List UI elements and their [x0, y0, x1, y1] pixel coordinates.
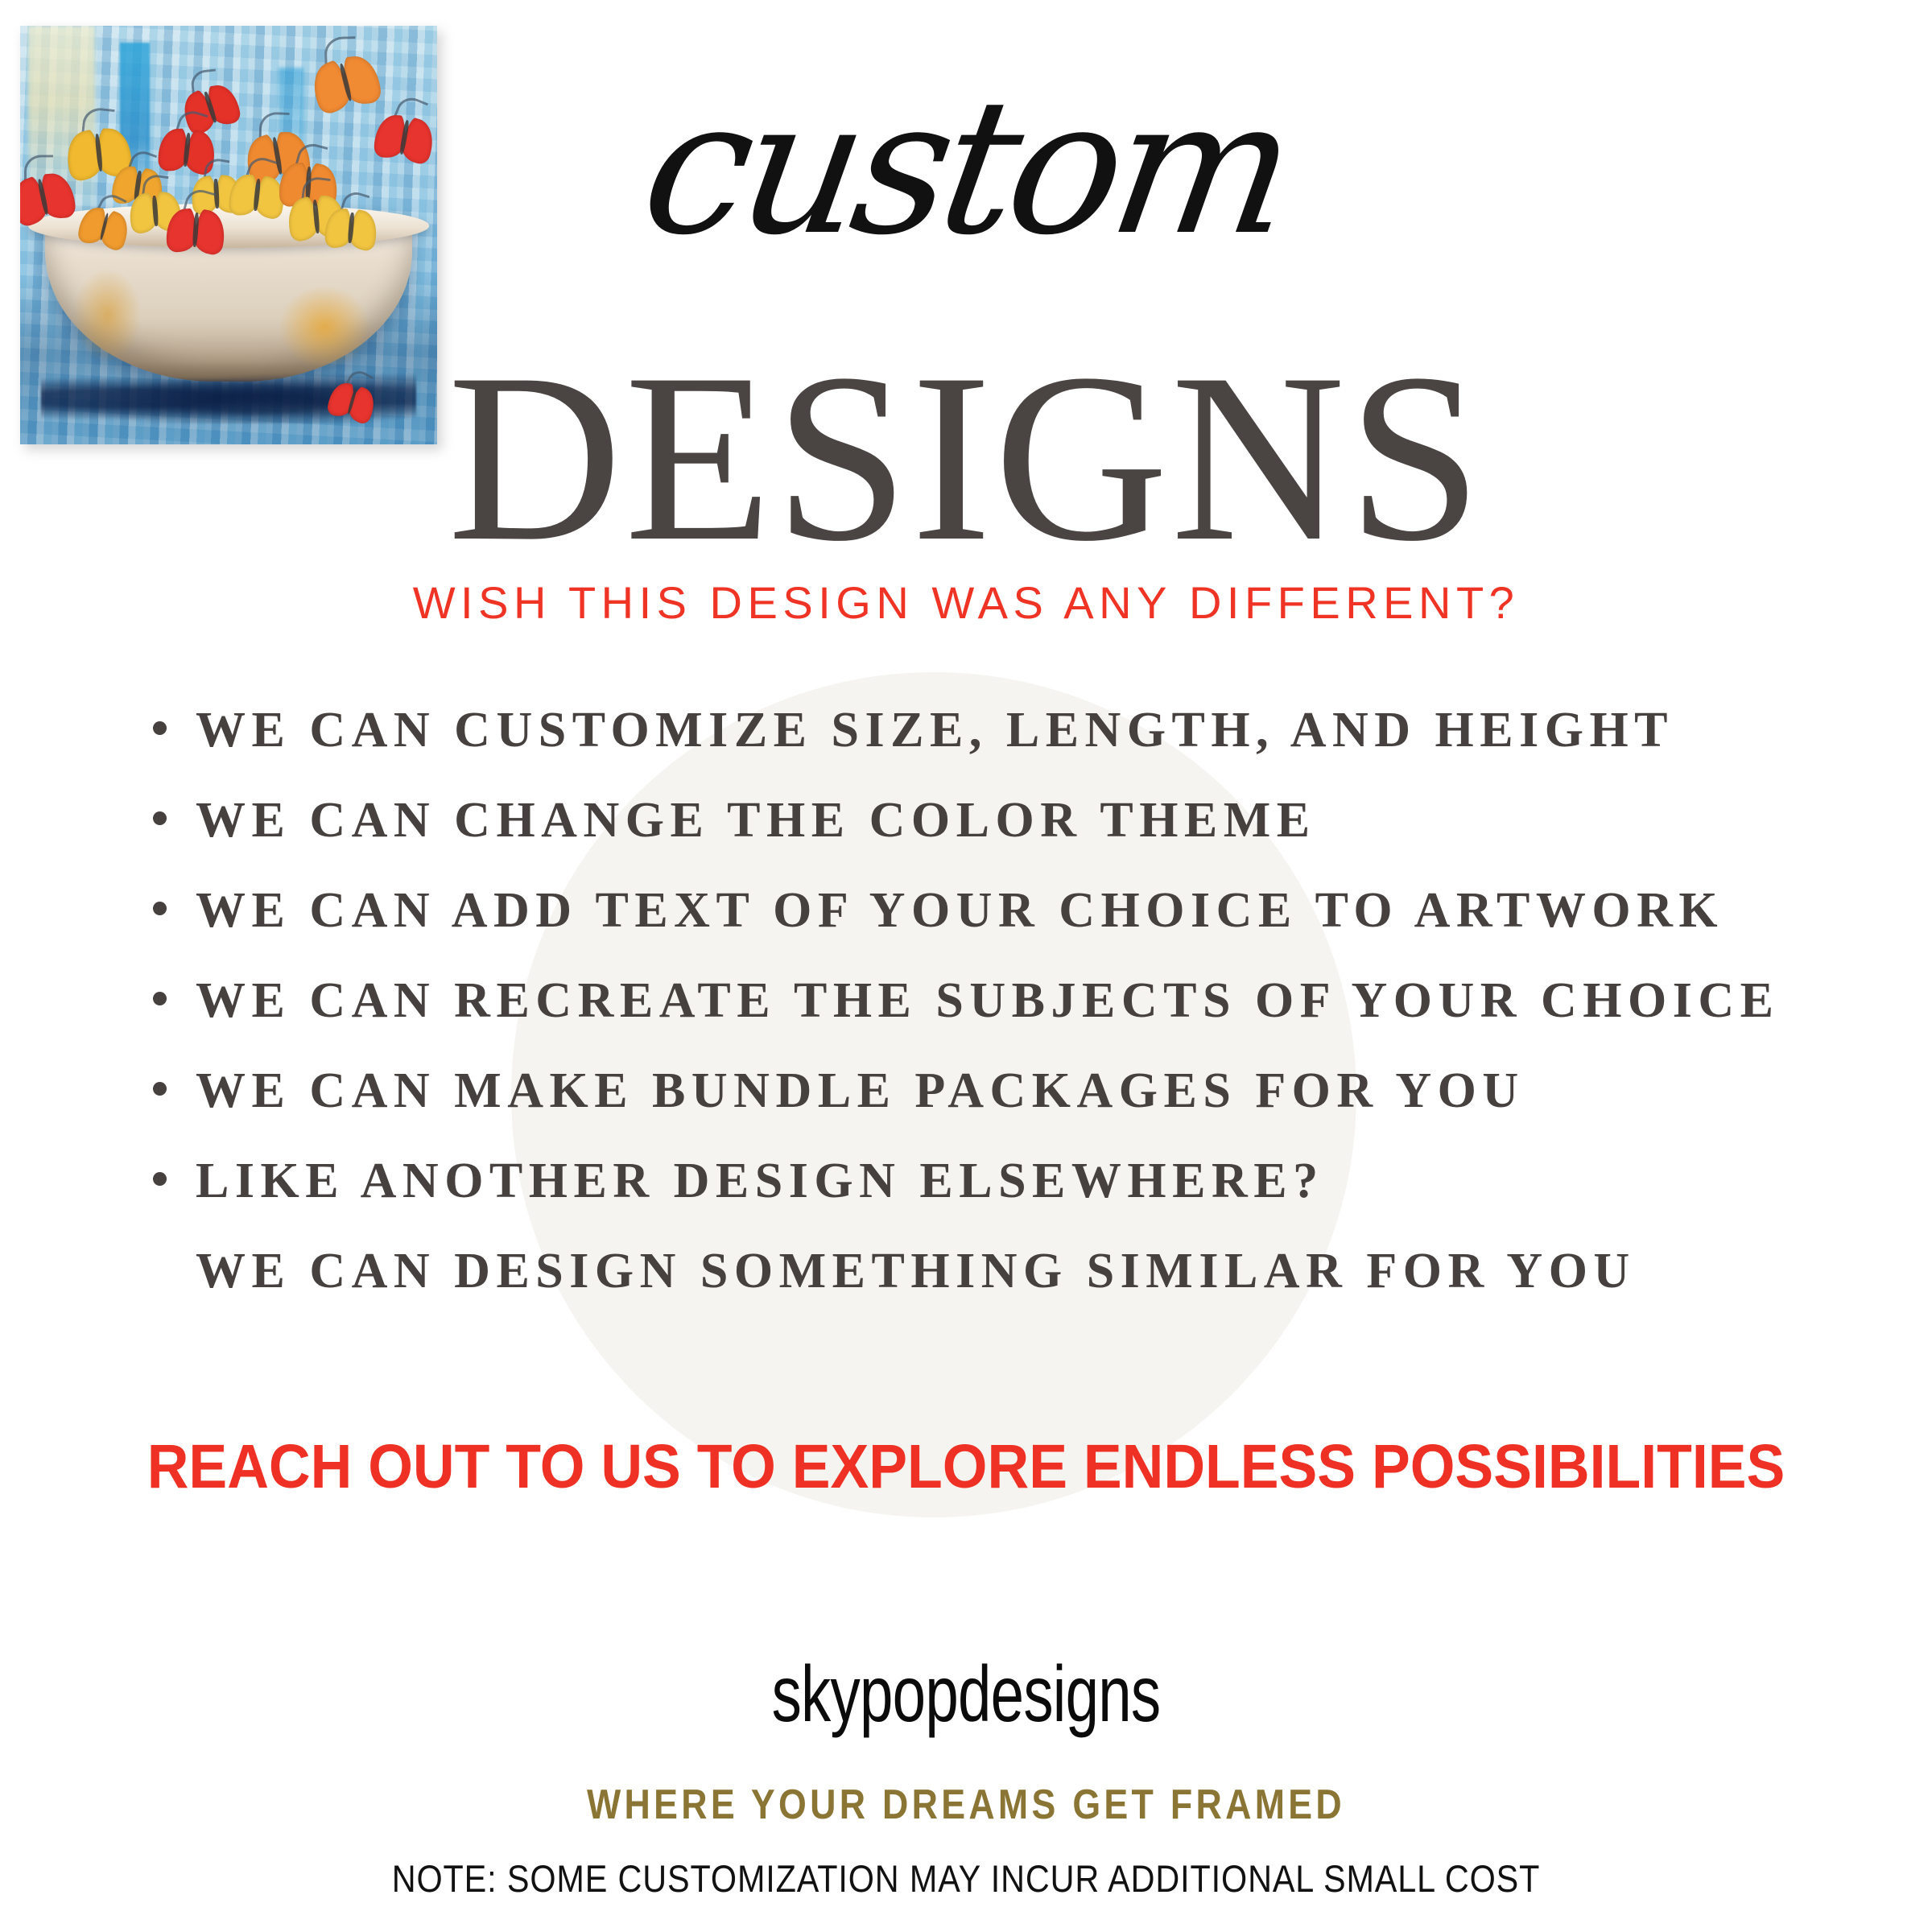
list-item-label: WE CAN ADD TEXT OF YOUR CHOICE TO ARTWOR… — [196, 882, 1724, 939]
benefits-list: WE CAN CUSTOMIZE SIZE, LENGTH, AND HEIGH… — [153, 702, 1843, 1333]
list-item: WE CAN ADD TEXT OF YOUR CHOICE TO ARTWOR… — [153, 882, 1843, 942]
brand-tagline: WHERE YOUR DREAMS GET FRAMED — [135, 1781, 1797, 1829]
list-item: WE CAN DESIGN SOMETHING SIMILAR FOR YOU — [153, 1243, 1843, 1302]
cta-text: REACH OUT TO US TO EXPLORE ENDLESS POSSI… — [68, 1431, 1864, 1503]
bullet-dot-icon — [153, 721, 167, 735]
list-item-label: WE CAN MAKE BUNDLE PACKAGES FOR YOU — [196, 1063, 1525, 1120]
script-headline-custom: custom — [0, 74, 1932, 261]
list-item-label: WE CAN CHANGE THE COLOR THEME — [196, 792, 1316, 849]
bullet-dot-icon — [153, 1172, 167, 1186]
footer-note: NOTE: SOME CUSTOMIZATION MAY INCUR ADDIT… — [116, 1856, 1816, 1901]
subtitle-question: WISH THIS DESIGN WAS ANY DIFFERENT? — [0, 576, 1932, 629]
list-item: LIKE ANOTHER DESIGN ELSEWHERE? — [153, 1153, 1843, 1212]
bullet-dot-icon — [153, 992, 167, 1005]
list-item-label: WE CAN DESIGN SOMETHING SIMILAR FOR YOU — [196, 1243, 1636, 1300]
brand-name: skypopdesigns — [232, 1649, 1700, 1740]
bullet-dot-icon — [153, 902, 167, 915]
bullet-dot-icon — [153, 811, 167, 825]
list-item: WE CAN CHANGE THE COLOR THEME — [153, 792, 1843, 852]
list-item: WE CAN MAKE BUNDLE PACKAGES FOR YOU — [153, 1063, 1843, 1122]
list-item: WE CAN CUSTOMIZE SIZE, LENGTH, AND HEIGH… — [153, 702, 1843, 762]
list-item-label: LIKE ANOTHER DESIGN ELSEWHERE? — [196, 1153, 1324, 1210]
page-title-designs: DESIGNS — [0, 336, 1932, 578]
list-item: WE CAN RECREATE THE SUBJECTS OF YOUR CHO… — [153, 972, 1843, 1032]
bullet-dot-icon — [153, 1082, 167, 1096]
list-item-label: WE CAN CUSTOMIZE SIZE, LENGTH, AND HEIGH… — [196, 702, 1674, 759]
list-item-label: WE CAN RECREATE THE SUBJECTS OF YOUR CHO… — [196, 972, 1780, 1030]
